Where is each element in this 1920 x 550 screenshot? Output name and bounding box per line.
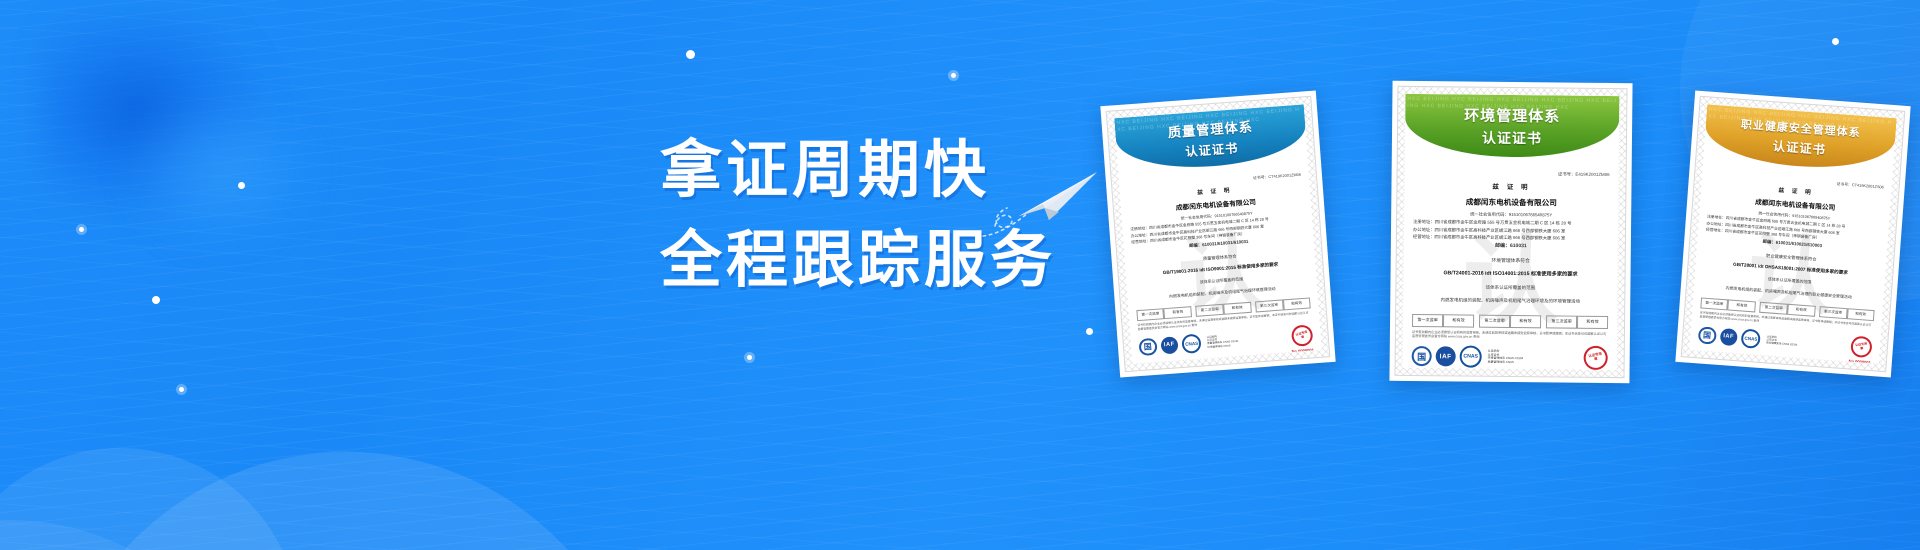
certificate-subtitle: 认证证书 — [1482, 127, 1542, 148]
paper-plane-icon — [975, 150, 1105, 240]
certificate-certify-label: 兹 证 明 — [1413, 183, 1609, 194]
arc-bottom-center — [46, 452, 646, 550]
certificate-audit-cell: 第三次监审 — [1546, 315, 1577, 328]
certificate-scope-text: 内燃发电机组的装配、机房噪声及机组尾气治理环境及的环境管理活动 — [1412, 297, 1608, 305]
glow-blob-light — [120, 90, 320, 250]
certificate-environmental-management[interactable]: HXC BEIJING HXC BEIJING HXC BEIJING HXC … — [1389, 81, 1632, 383]
certificate-text-block: 证书号：CT419K2001ZS06兹 证 明成都闰东电机设备有限公司统一社会信… — [1689, 159, 1893, 364]
certificate-audit-cell: 第二次监审 — [1479, 314, 1510, 327]
cnas-accreditation-text: 认证机构 认可证书 质量管理体系 CNAS C0194 环境管理体系 CNAS — [1207, 330, 1288, 349]
certificate-frame: HXC BEIJING HXC BEIJING HXC BEIJING HXC … — [1681, 96, 1906, 372]
certificate-audit-cell: 第二次监审 — [1196, 304, 1224, 317]
certificate-frame: HXC BEIJING HXC BEIJING HXC BEIJING HXC … — [1394, 86, 1627, 378]
certificate-audit-cell: 第三次监审 — [1819, 306, 1847, 319]
certificate-address-line: 办公地址：四川省成都市金牛区高科技产业区岷江路 666 号西部钢铁大厦 606 … — [1413, 227, 1609, 235]
certificate-content: HXC BEIJING HXC BEIJING HXC BEIJING HXC … — [1689, 104, 1897, 363]
certificate-audit-cell: 第二次监审 — [1760, 302, 1788, 315]
certificate-content: HXC BEIJING HXC BEIJING HXC BEIJING HXC … — [1403, 94, 1620, 370]
certificate-subtitle: 认证证书 — [1772, 136, 1826, 158]
certificate-audit-cell: 和有效 — [1510, 314, 1541, 327]
iaf-seal-icon: IAF — [1436, 346, 1456, 366]
certificate-audit-cell: 和有效 — [1846, 308, 1874, 321]
dot-left-mid — [76, 224, 87, 235]
iaf-seal-icon: IAF — [1719, 328, 1738, 347]
dot-left-lower — [152, 296, 160, 304]
certificate-footnote: 证书有效期内企业必须接受认证机构的监督审核，未通过监督审核或逾期未接受监督审核，… — [1412, 329, 1608, 340]
certificate-audit-cell: 第三次监审 — [1255, 299, 1283, 312]
certificate-address-line: 邮编：610031 — [1413, 242, 1609, 251]
certificate-occupational-health-safety[interactable]: HXC BEIJING HXC BEIJING HXC BEIJING HXC … — [1675, 90, 1910, 377]
certificate-audit-cell: 第一次监审 — [1136, 308, 1164, 321]
certificate-scope-label: 该体系认证所覆盖的范围 — [1412, 284, 1608, 292]
red-certification-stamp: 认证专用章 — [1850, 335, 1874, 359]
certificate-address-line: 经营地址：四川省成都市金牛区高科技产业区岷江路 666 号西部钢铁大厦 606 … — [1413, 234, 1609, 242]
arc-bottom-left — [0, 448, 300, 550]
certificate-title: 环境管理体系 — [1464, 104, 1560, 126]
dot-upper-mid — [686, 50, 695, 59]
cnas-seal-icon: CNAS — [1741, 328, 1762, 349]
red-certification-stamp: 认证专用章 — [1289, 322, 1315, 348]
certificate-banner: HXC BEIJING HXC BEIJING HXC BEIJING HXC … — [1405, 94, 1620, 158]
certificate-audit-cell: 和有效 — [1223, 302, 1251, 315]
certificate-company-name: 成都闰东电机设备有限公司 — [1413, 197, 1609, 209]
certificate-audit-cell: 和有效 — [1787, 304, 1815, 317]
certificate-audit-cell: 第一次监审 — [1700, 297, 1728, 310]
cnas-seal-icon: CNAS — [1181, 333, 1202, 354]
cnas-seal-icon: CNAS — [1460, 346, 1482, 368]
certificate-audit-cell: 和有效 — [1728, 299, 1756, 312]
cnca-seal-icon: 国 — [1698, 326, 1717, 345]
promo-banner: 拿证周期快 全程跟踪服务 HXC BEIJING HXC BEIJING HXC… — [0, 0, 1920, 550]
certificate-audit-cell: 和有效 — [1164, 306, 1192, 319]
certificate-audit-table: 第一次监审和有效第二次监审和有效第三次监审和有效 — [1412, 313, 1608, 328]
certificate-audit-cell: 和有效 — [1282, 297, 1310, 310]
certificate-group: HXC BEIJING HXC BEIJING HXC BEIJING HXC … — [1100, 0, 1920, 550]
arc-bottom-far-left — [0, 520, 270, 550]
dot-center-low — [744, 352, 755, 363]
cnas-accreditation-text: 认证机构 认可证书 环境管理体系 CNAS C0194 质量管理体系 CNAS — [1488, 350, 1580, 365]
dot-upper-mid-2 — [948, 70, 959, 81]
certificate-text-block: 证书号：E419K2001ZM06兹 证 明成都闰东电机设备有限公司统一社会信用… — [1403, 156, 1619, 370]
certificate-address-line: 注册地址：四川省成都市金牛区金府路 555 号万贯五金机电城二期 C 区 14 … — [1413, 219, 1609, 227]
certificate-audit-cell: 和有效 — [1443, 314, 1474, 327]
glow-blob-dark — [40, 20, 270, 220]
dot-center-bottom — [176, 384, 187, 395]
certificate-audit-cell: 第一次监审 — [1412, 313, 1443, 326]
cnca-seal-icon: 国 — [1138, 337, 1157, 356]
certificate-system-label: 环境管理体系符合 — [1413, 258, 1609, 267]
certificate-serial-number: 证书号：E419K2001ZM06 — [1414, 170, 1610, 178]
certificate-credit-code: 统一社会信用代码：91510106766540875Y — [1413, 211, 1609, 219]
dot-left-upper — [238, 182, 245, 189]
cnca-seal-icon: 国 — [1412, 346, 1432, 366]
iaf-seal-icon: IAF — [1160, 336, 1179, 355]
cnas-accreditation-text: 认证机构 认可证书 职业健康安全 CNAS C0194 — [1766, 335, 1847, 350]
red-certification-stamp: 认证专用章 — [1582, 344, 1610, 370]
certificate-audit-cell: 和有效 — [1577, 315, 1608, 328]
dot-right-low — [1086, 328, 1093, 335]
certificate-standard: GB/T24001-2016 idt ISO14001:2015 标准使用多家的… — [1413, 270, 1609, 279]
certificate-seals: 国IAFCNAS认证机构 认可证书 环境管理体系 CNAS C0194 质量管理… — [1412, 344, 1608, 370]
